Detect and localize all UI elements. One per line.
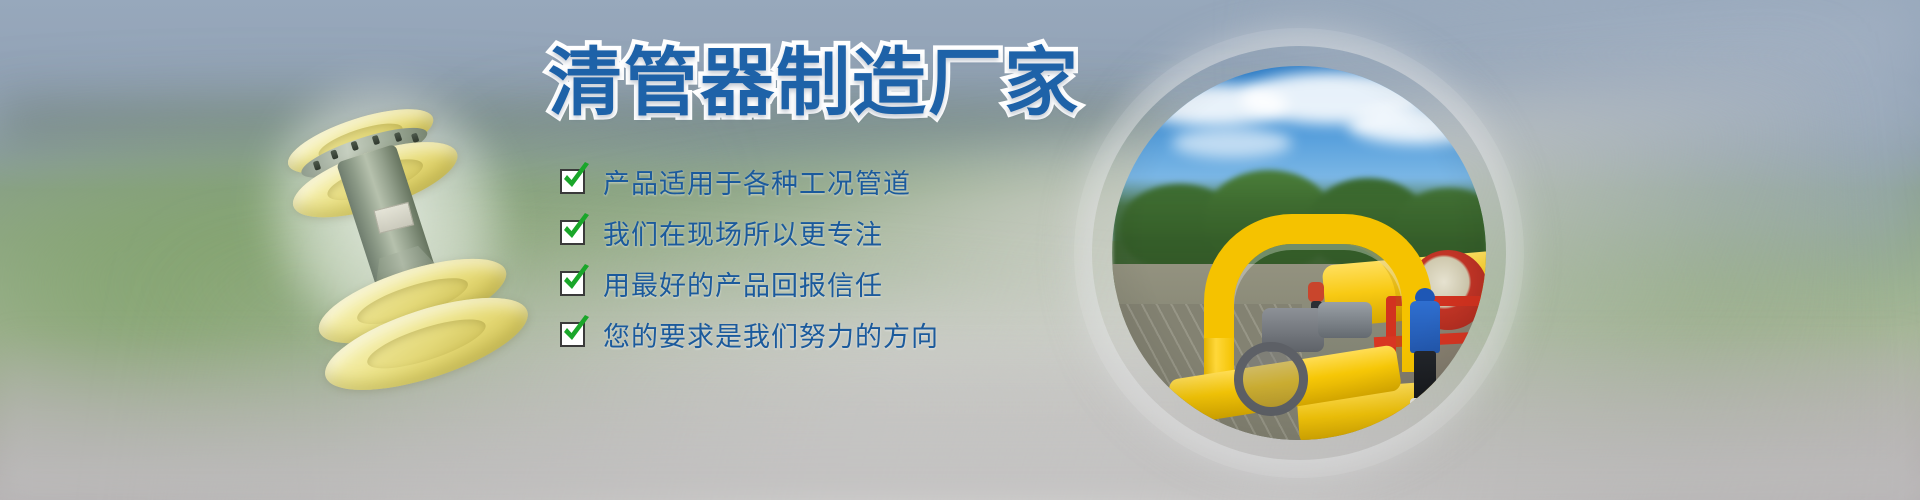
banner-headline: 清管器制造厂家	[548, 46, 1080, 120]
check-icon	[560, 322, 585, 347]
check-icon	[560, 220, 585, 245]
feature-item-3: 用最好的产品回报信任	[560, 258, 1080, 309]
promo-banner: 清管器制造厂家 产品适用于各种工况管道 我们在现场所以更专注	[0, 0, 1920, 500]
check-icon	[560, 271, 585, 296]
feature-item-4-label: 您的要求是我们努力的方向	[603, 315, 939, 354]
feature-item-1-label: 产品适用于各种工况管道	[603, 162, 911, 201]
photo-vignette	[1112, 66, 1486, 440]
feature-item-2-label: 我们在现场所以更专注	[603, 213, 883, 252]
feature-list: 产品适用于各种工况管道 我们在现场所以更专注 用最好的产品回报信任	[560, 156, 1080, 360]
feature-item-1: 产品适用于各种工况管道	[560, 156, 1080, 207]
feature-item-2: 我们在现场所以更专注	[560, 207, 1080, 258]
gas-pipeline-site-photo	[1112, 66, 1486, 440]
feature-item-3-label: 用最好的产品回报信任	[603, 264, 883, 303]
feature-item-4: 您的要求是我们努力的方向	[560, 309, 1080, 360]
check-icon	[560, 169, 585, 194]
